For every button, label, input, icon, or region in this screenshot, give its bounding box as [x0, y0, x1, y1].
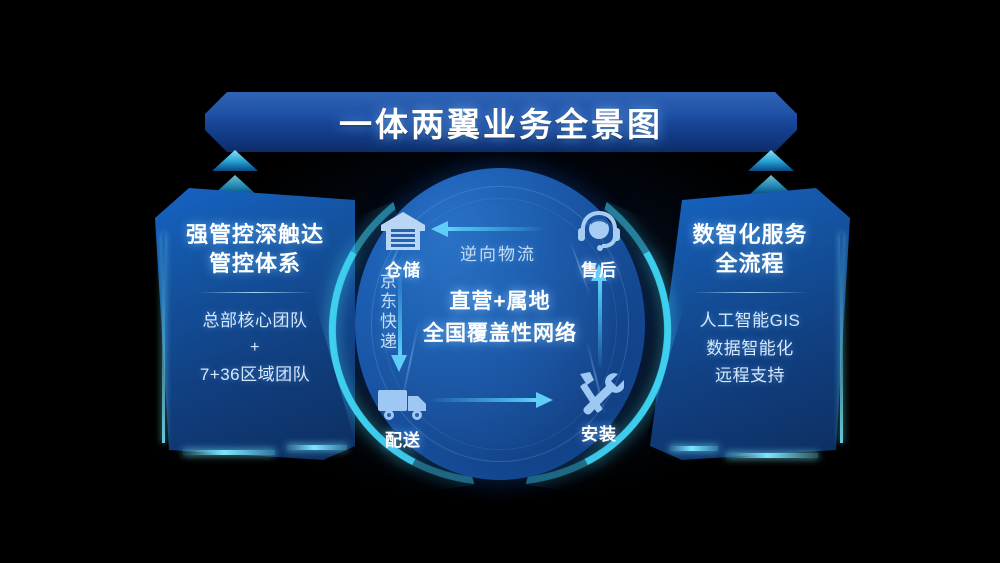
panel-right-digital-service[interactable]: 数智化服务 全流程 人工智能GIS 数据智能化 远程支持 — [650, 188, 850, 460]
cycle-node-install-label: 安装 — [581, 420, 617, 445]
panel-left-heading: 强管控深触达 管控体系 — [186, 220, 324, 278]
panel-left-sub-line3: 7+36区域团队 — [200, 361, 310, 389]
arrow-shaft — [431, 398, 539, 402]
panel-left-heading-line2: 管控体系 — [186, 249, 324, 278]
cycle-node-install[interactable]: 安装 — [556, 370, 642, 445]
panel-right-content: 数智化服务 全流程 人工智能GIS 数据智能化 远程支持 — [650, 220, 850, 390]
arrow-delivery-to-install — [431, 396, 553, 403]
chevron-up-icon — [212, 150, 258, 171]
panel-right-bottom-accent — [726, 453, 818, 458]
truck-icon — [377, 376, 429, 422]
cycle-center-caption: 直营+属地 全国覆盖性网络 — [383, 286, 617, 349]
panel-right-heading-line2: 全流程 — [692, 249, 807, 278]
panel-left-content: 强管控深触达 管控体系 总部核心团队 + 7+36区域团队 — [155, 220, 355, 388]
warehouse-icon — [379, 206, 427, 252]
panel-left-governance[interactable]: 强管控深触达 管控体系 总部核心团队 + 7+36区域团队 — [155, 188, 355, 460]
title-banner: 一体两翼业务全景图 — [205, 92, 797, 152]
slide-canvas: 一体两翼业务全景图 强管控深触达 管控体系 总部核心团队 + 7+36区域团队 — [0, 0, 1000, 563]
panel-right-sub-line2: 数据智能化 — [700, 335, 801, 363]
panel-right-heading: 数智化服务 全流程 — [692, 220, 807, 278]
panel-right-subtext: 人工智能GIS 数据智能化 远程支持 — [700, 307, 801, 390]
page-title: 一体两翼业务全景图 — [205, 92, 797, 152]
cycle-node-aftersale-label: 售后 — [581, 256, 617, 281]
panel-left-subtext: 总部核心团队 + 7+36区域团队 — [200, 307, 310, 388]
arrow-label-reverse-logistics: 逆向物流 — [438, 240, 558, 265]
cycle-center-line1: 直营+属地 — [383, 286, 617, 318]
panel-left-divider — [200, 292, 310, 293]
panel-right-sub-line1: 人工智能GIS — [700, 307, 801, 335]
panel-left-sub-line1: 总部核心团队 — [200, 307, 310, 335]
panel-right-heading-line1: 数智化服务 — [692, 220, 807, 249]
cycle-node-delivery[interactable]: 配送 — [360, 376, 446, 451]
panel-left-heading-line1: 强管控深触达 — [186, 220, 324, 249]
arrow-reverse-logistics — [431, 225, 543, 232]
headset-icon — [576, 206, 622, 252]
cycle-node-warehouse-label: 仓储 — [385, 256, 421, 281]
cycle-node-warehouse[interactable]: 仓储 — [360, 206, 446, 281]
panel-left-sub-line2: + — [200, 335, 310, 361]
center-cycle-diagram: 逆向物流 京东快递 直营+属地 全国覆盖性网络 仓储 — [328, 168, 672, 480]
cycle-node-aftersale[interactable]: 售后 — [556, 206, 642, 281]
panel-left-bottom-accent — [183, 450, 275, 455]
cycle-node-delivery-label: 配送 — [385, 426, 421, 451]
chevron-up-icon — [748, 150, 794, 171]
panel-right-sub-line3: 远程支持 — [700, 362, 801, 390]
panel-right-divider — [695, 292, 805, 293]
tools-icon — [574, 370, 624, 416]
arrow-shaft — [445, 227, 543, 231]
cycle-center-line2: 全国覆盖性网络 — [383, 318, 617, 350]
panel-right-bottom-accent-2 — [670, 446, 718, 451]
